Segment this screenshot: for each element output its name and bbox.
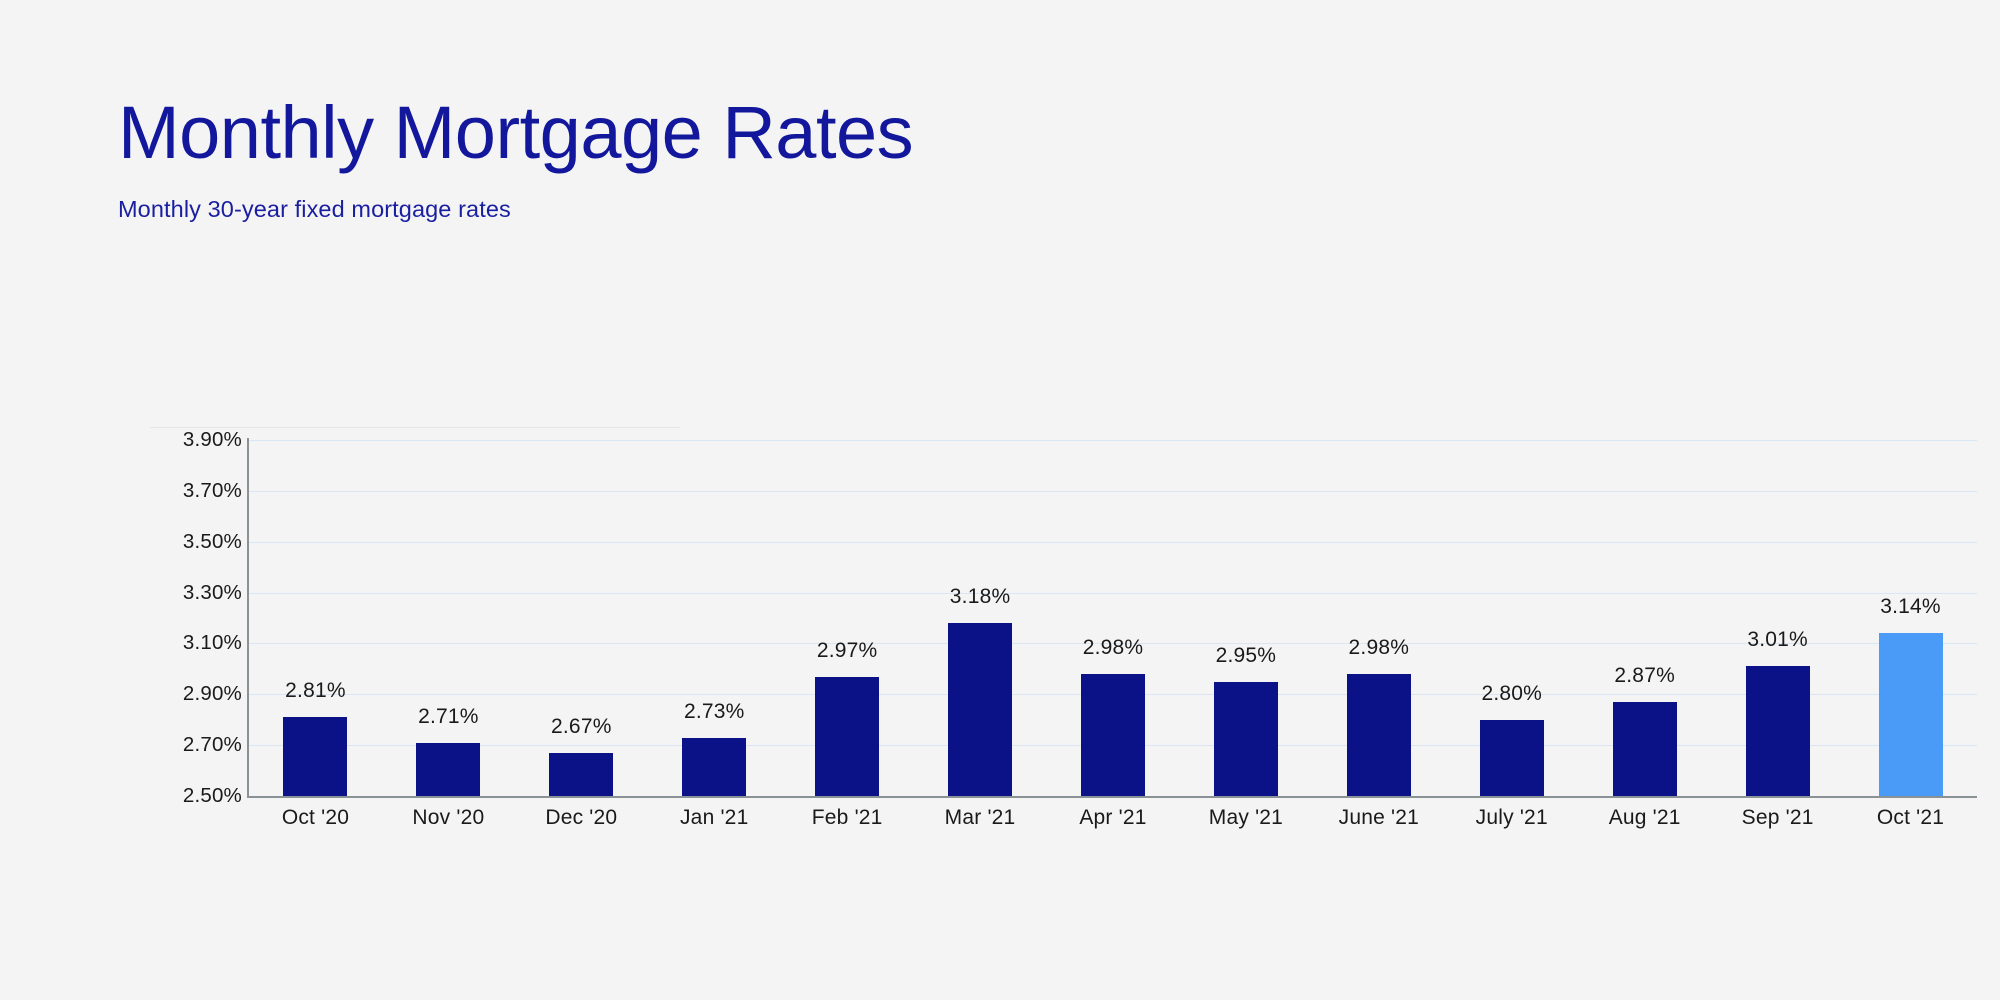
x-axis-tick-label: Feb '21 [781,806,914,830]
bar[interactable]: 2.73% [682,738,746,796]
bar-value-label: 3.14% [1880,595,1941,619]
x-axis-tick-label: Oct '20 [249,806,382,830]
chart-subtitle: Monthly 30-year fixed mortgage rates [118,196,1518,223]
bar[interactable]: 2.95% [1214,682,1278,796]
bar-slot: 2.97% [781,440,914,796]
bar[interactable]: 2.98% [1081,674,1145,796]
bar-slot: 2.98% [1312,440,1445,796]
bar-slot: 3.01% [1711,440,1844,796]
bar-highlighted[interactable]: 3.14% [1879,633,1943,796]
bar[interactable]: 2.97% [815,677,879,797]
y-axis-tick-label: 2.90% [150,682,242,706]
x-axis-tick-label: June '21 [1312,806,1445,830]
x-axis-tick-label: Oct '21 [1844,806,1977,830]
bar[interactable]: 2.71% [416,743,480,796]
bar-value-label: 2.98% [1349,636,1410,660]
bar-value-label: 2.81% [285,679,346,703]
x-axis-tick-label: Sep '21 [1711,806,1844,830]
chart-header: Monthly Mortgage Rates Monthly 30-year f… [118,96,1518,223]
bar-value-label: 2.87% [1614,664,1675,688]
x-axis-tick-label: Dec '20 [515,806,648,830]
y-axis-tick-label: 2.50% [150,784,242,808]
bar[interactable]: 3.18% [948,623,1012,796]
bar[interactable]: 2.81% [283,717,347,796]
bar-value-label: 2.97% [817,639,878,663]
bar-value-label: 2.71% [418,705,479,729]
y-axis-tick-label: 2.70% [150,733,242,757]
bar-slot: 2.71% [382,440,515,796]
bar-value-label: 3.18% [950,585,1011,609]
x-axis-tick-label: July '21 [1445,806,1578,830]
y-axis-tick-label: 3.90% [150,428,242,452]
plot-area: 2.81%2.71%2.67%2.73%2.97%3.18%2.98%2.95%… [249,440,1977,796]
bar-value-label: 2.80% [1481,682,1542,706]
bar-value-label: 2.67% [551,715,612,739]
bar-slot: 2.95% [1179,440,1312,796]
bar-slot: 3.18% [914,440,1047,796]
x-axis-tick-label: Mar '21 [914,806,1047,830]
bar-value-label: 2.95% [1216,644,1277,668]
bar-value-label: 2.98% [1083,636,1144,660]
y-axis-tick-label: 3.50% [150,530,242,554]
x-axis-line [247,796,1977,798]
chart-container: Monthly Mortgage Rates Monthly 30-year f… [0,0,2000,1000]
page-title: Monthly Mortgage Rates [118,96,1518,170]
x-axis-tick-label: Nov '20 [382,806,515,830]
bar[interactable]: 2.80% [1480,720,1544,796]
bar-series: 2.81%2.71%2.67%2.73%2.97%3.18%2.98%2.95%… [249,440,1977,796]
bar-slot: 3.14% [1844,440,1977,796]
bar-slot: 2.87% [1578,440,1711,796]
x-axis-labels: Oct '20Nov '20Dec '20Jan '21Feb '21Mar '… [249,806,1977,830]
x-axis-tick-label: Aug '21 [1578,806,1711,830]
bar-slot: 2.81% [249,440,382,796]
bar-value-label: 2.73% [684,700,745,724]
bar[interactable]: 2.87% [1613,702,1677,796]
bar-slot: 2.80% [1445,440,1578,796]
x-axis-tick-label: Apr '21 [1047,806,1180,830]
y-axis-tick-label: 3.10% [150,631,242,655]
bar[interactable]: 3.01% [1746,666,1810,796]
x-axis-tick-label: Jan '21 [648,806,781,830]
y-axis-labels: 3.90%3.70%3.50%3.30%3.10%2.90%2.70%2.50% [150,440,242,796]
bar[interactable]: 2.98% [1347,674,1411,796]
bar-slot: 2.98% [1047,440,1180,796]
bar-slot: 2.67% [515,440,648,796]
y-axis-tick-label: 3.70% [150,479,242,503]
y-axis-tick-label: 3.30% [150,581,242,605]
bar-slot: 2.73% [648,440,781,796]
bar-value-label: 3.01% [1747,628,1808,652]
bar[interactable]: 2.67% [549,753,613,796]
x-axis-tick-label: May '21 [1179,806,1312,830]
